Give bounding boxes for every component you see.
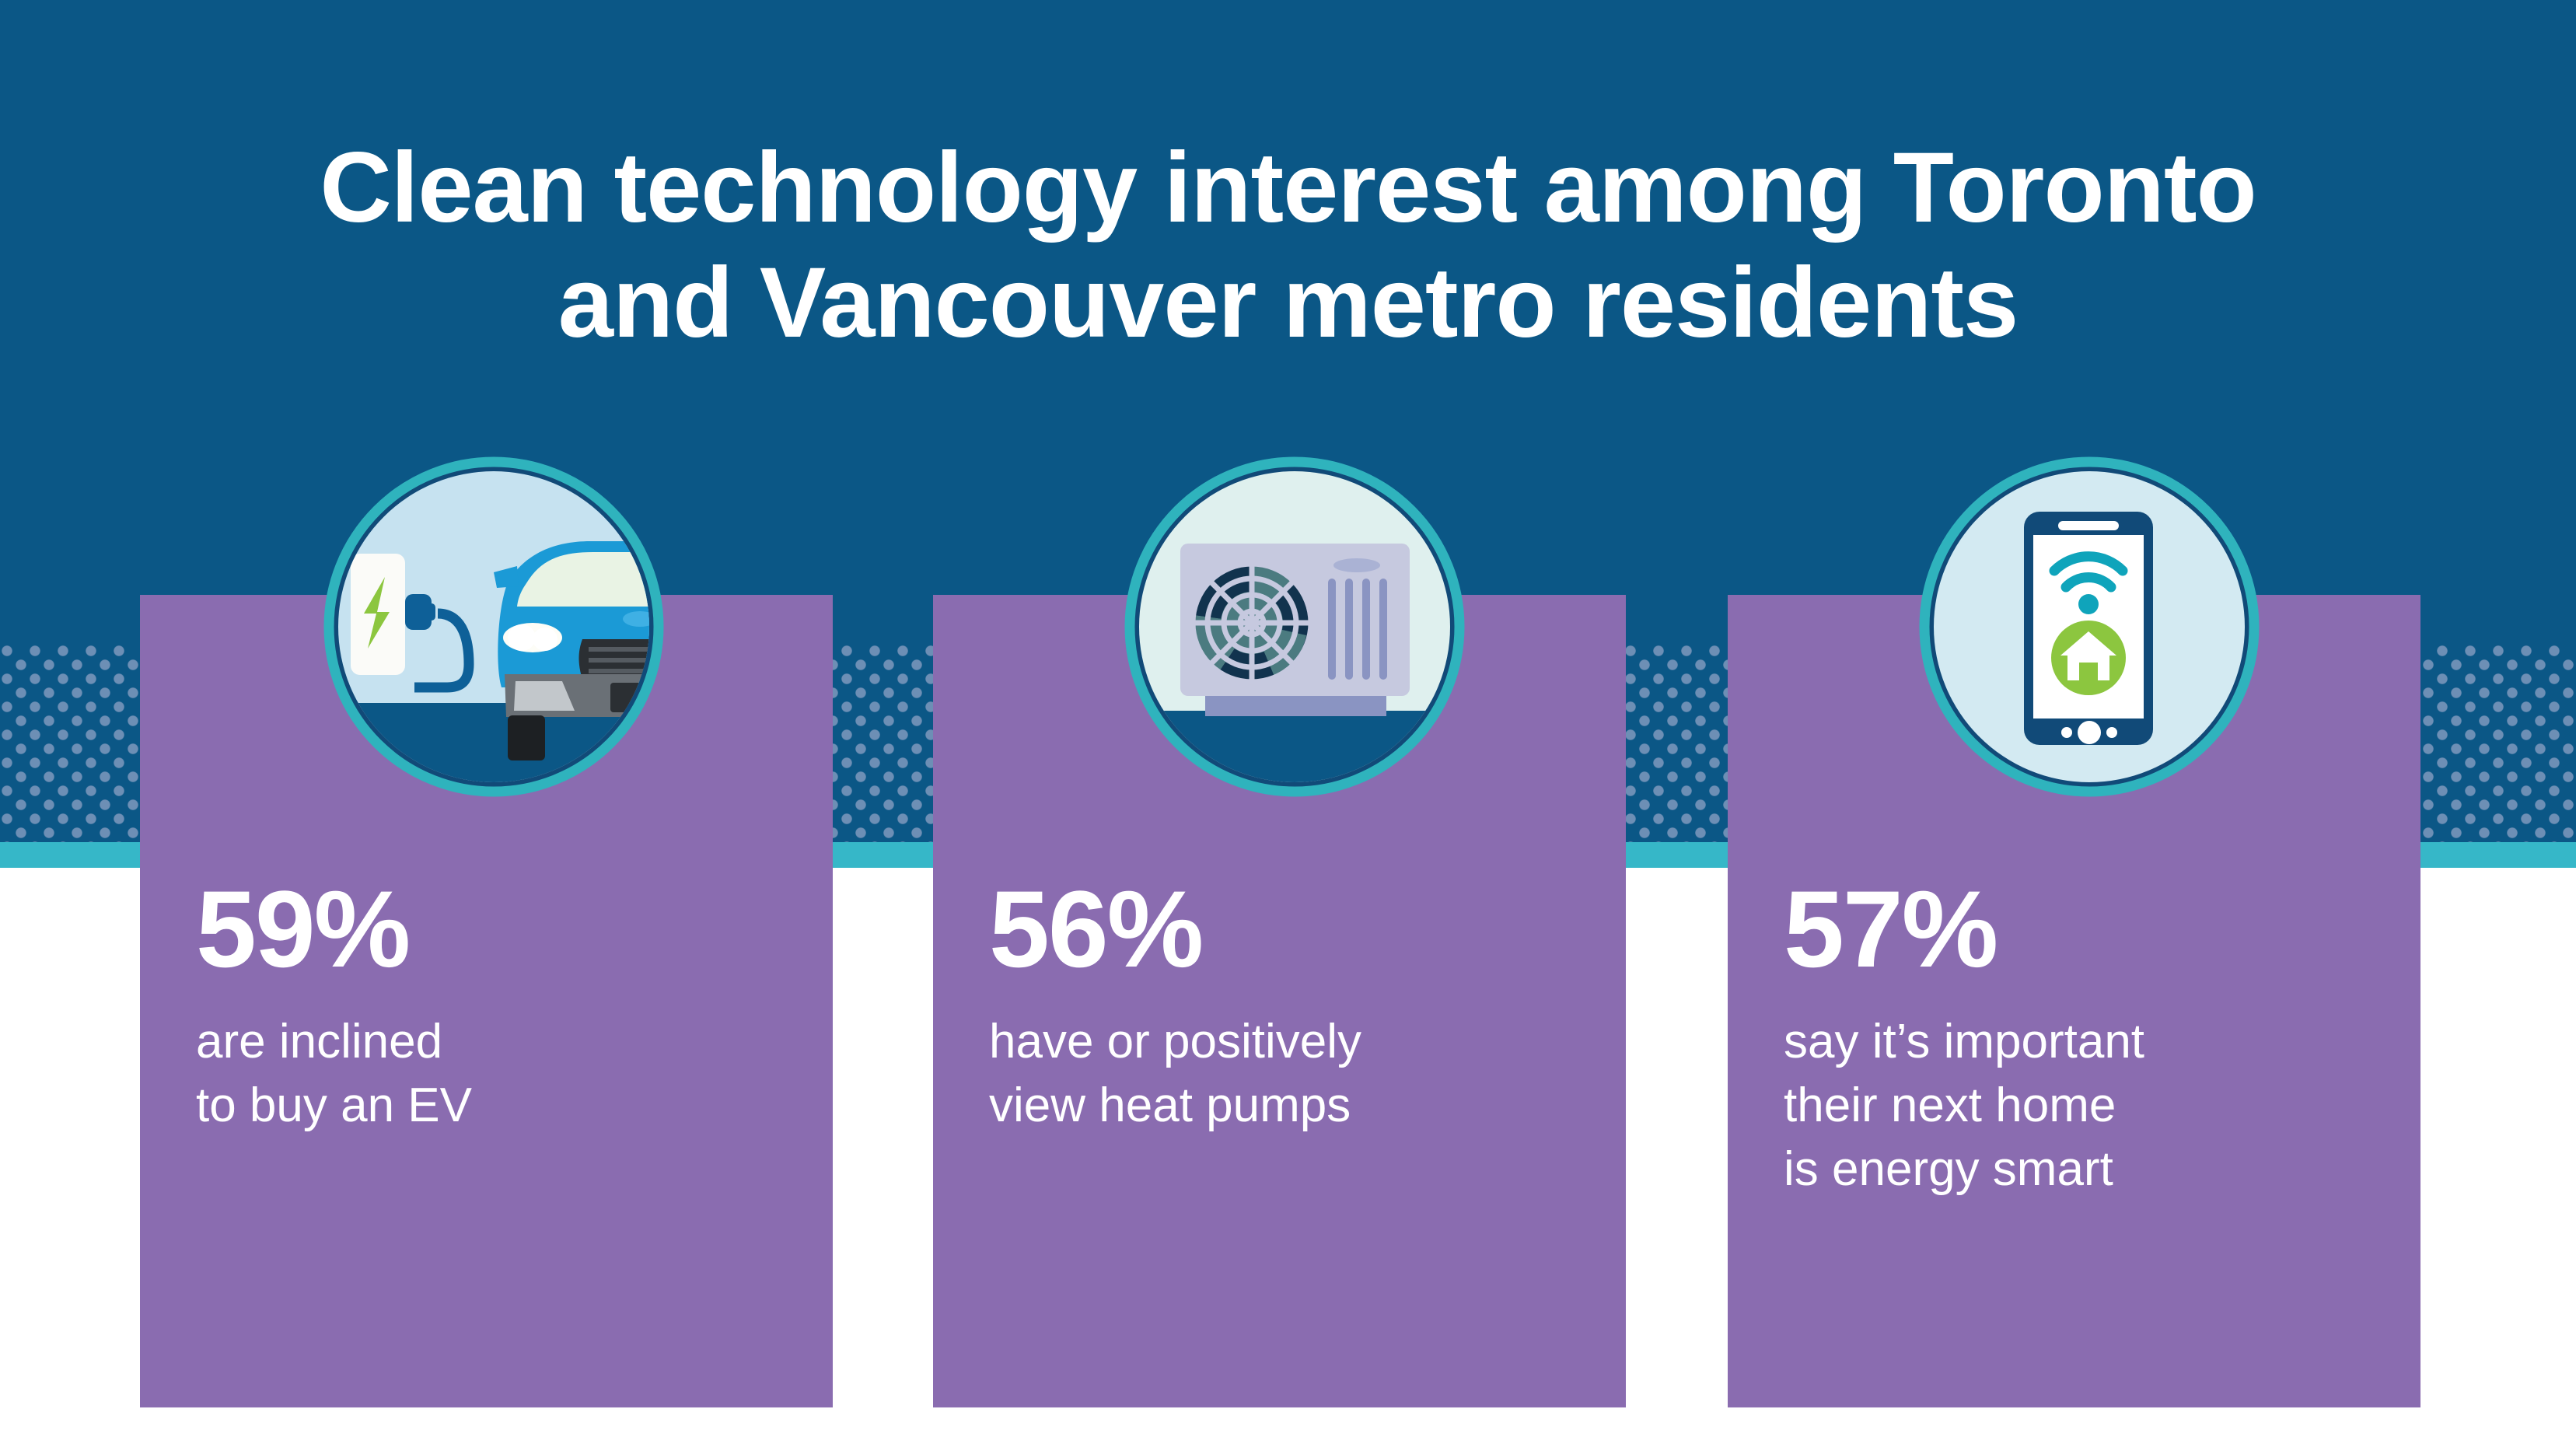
stat-description-ev-line-2: to buy an EV [196,1074,794,1138]
stat-description-heat-pump-line-1: have or positively [989,1010,1587,1074]
stat-description-smart-home: say it’s important their next home is en… [1784,1010,2382,1201]
smart-home-phone-icon [1917,454,2262,799]
stat-description-smart-home-line-3: is energy smart [1784,1138,2382,1201]
page-title-line-2: and Vancouver metro residents [140,246,2436,361]
stat-card-smart-home-text: 57% say it’s important their next home i… [1784,875,2382,1201]
stat-value-ev: 59% [196,875,794,984]
heat-pump-icon [1122,454,1467,799]
stat-description-heat-pump: have or positively view heat pumps [989,1010,1587,1138]
stat-description-smart-home-line-2: their next home [1784,1074,2382,1138]
stat-description-smart-home-line-1: say it’s important [1784,1010,2382,1074]
infographic-canvas: Clean technology interest among Toronto … [0,0,2576,1444]
ev-charging-icon [321,454,666,799]
stat-description-ev-line-1: are inclined [196,1010,794,1074]
page-title: Clean technology interest among Toronto … [0,131,2576,362]
stat-value-smart-home: 57% [1784,875,2382,984]
stat-value-heat-pump: 56% [989,875,1587,984]
stat-card-heat-pump-text: 56% have or positively view heat pumps [989,875,1587,1138]
page-title-line-1: Clean technology interest among Toronto [140,131,2436,246]
stat-card-ev-text: 59% are inclined to buy an EV [196,875,794,1138]
stat-description-ev: are inclined to buy an EV [196,1010,794,1138]
stat-description-heat-pump-line-2: view heat pumps [989,1074,1587,1138]
